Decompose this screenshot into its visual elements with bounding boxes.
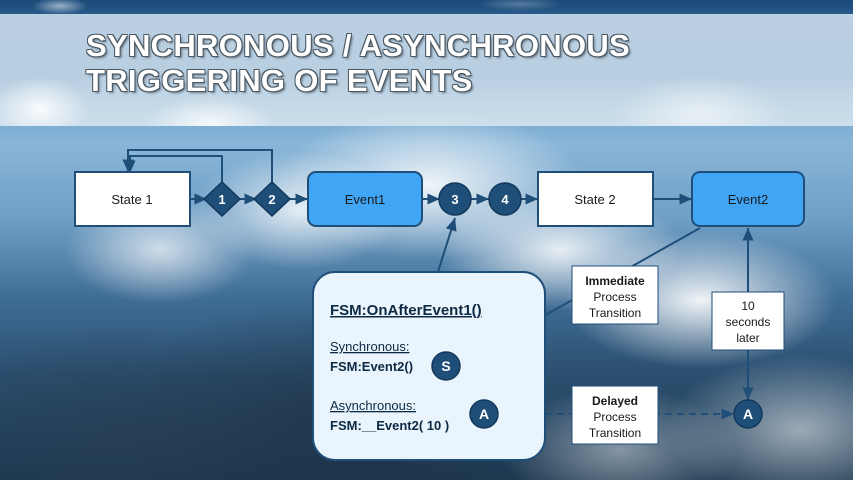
node-state2[interactable]: State 2 [538,172,653,226]
node-state1-label: State 1 [111,192,152,207]
sync-marker[interactable]: S [432,352,460,380]
delay-note: 10 seconds later [712,292,784,350]
immediate-note-line2: Process [593,290,636,304]
immediate-note: Immediate Process Transition [572,266,658,324]
fsm-callout[interactable]: FSM:OnAfterEvent1() Synchronous: FSM:Eve… [313,272,545,460]
sync-marker-label: S [441,358,450,374]
node-gate4[interactable]: 4 [489,183,521,215]
node-gate4-label: 4 [501,192,509,207]
fsm-sync-code: FSM:Event2() [330,359,413,374]
node-state2-label: State 2 [574,192,615,207]
async-marker[interactable]: A [470,400,498,428]
async-target-marker[interactable]: A [734,400,762,428]
delayed-note-line3: Transition [589,426,641,440]
node-event1-label: Event1 [345,192,385,207]
node-gate3-label: 3 [451,192,458,207]
delayed-note-title: Delayed [592,394,638,408]
node-gate1[interactable]: 1 [204,182,240,216]
fsm-async-code: FSM:__Event2( 10 ) [330,418,449,433]
immediate-note-line3: Transition [589,306,641,320]
delay-note-line2: seconds [726,315,771,329]
delay-note-line3: later [736,331,759,345]
fsm-sync-label: Synchronous: [330,339,410,354]
node-gate2[interactable]: 2 [254,182,290,216]
node-gate2-label: 2 [268,192,275,207]
fsm-callout-title: FSM:OnAfterEvent1() [330,302,482,319]
node-event2[interactable]: Event2 [692,172,804,226]
node-gate3[interactable]: 3 [439,183,471,215]
delayed-note: Delayed Process Transition [572,386,658,444]
async-marker-label: A [479,406,489,422]
immediate-note-title: Immediate [585,274,645,288]
delayed-note-line2: Process [593,410,636,424]
node-state1[interactable]: State 1 [75,172,190,226]
flow-diagram: State 1 1 2 Event1 3 4 Sta [0,0,853,480]
slide-canvas: SYNCHRONOUS / ASYNCHRONOUS TRIGGERING OF… [0,0,853,480]
node-event1[interactable]: Event1 [308,172,422,226]
fsm-async-label: Asynchronous: [330,398,416,413]
async-target-label: A [743,406,753,422]
delay-note-line1: 10 [741,299,755,313]
connector-callout-to-gate3 [437,218,455,275]
node-event2-label: Event2 [728,192,768,207]
node-gate1-label: 1 [218,192,225,207]
